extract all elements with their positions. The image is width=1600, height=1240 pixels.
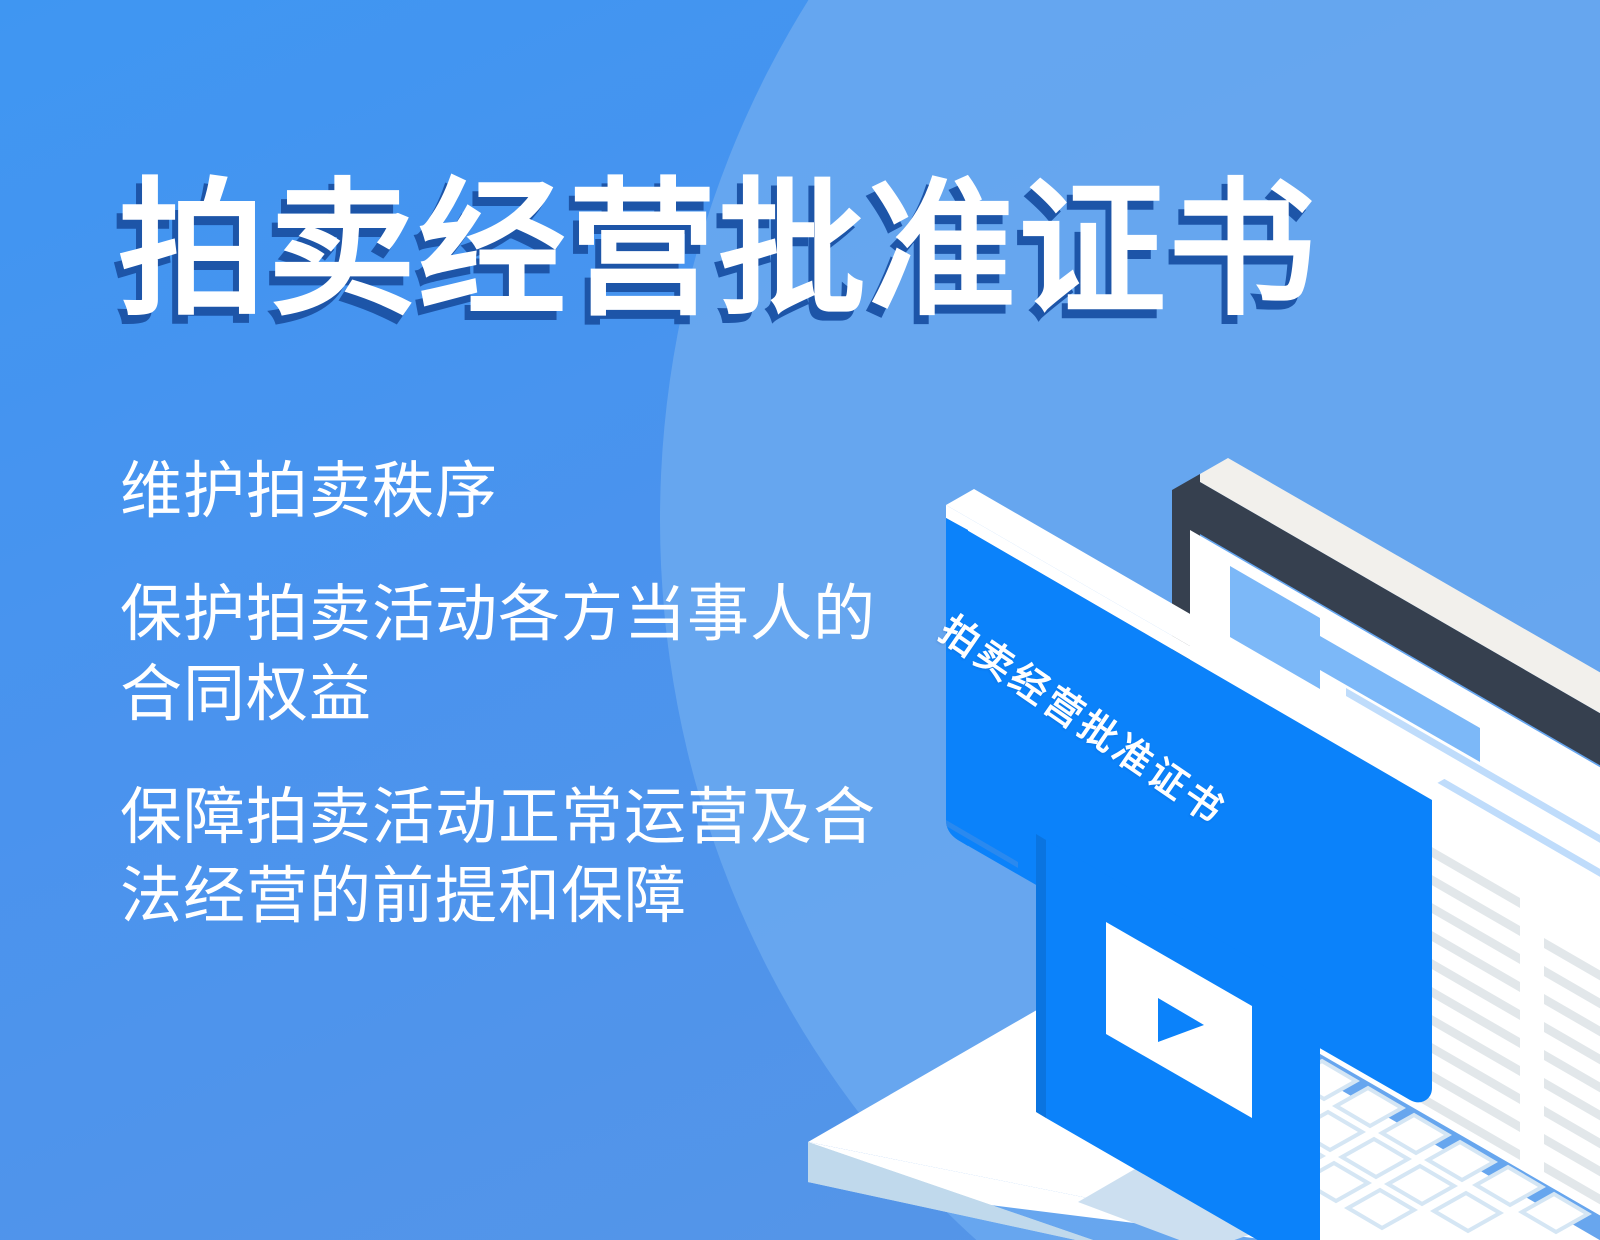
feature-list: 维护拍卖秩序 保护拍卖活动各方当事人的合同权益 保障拍卖活动正常运营及合法经营的… — [120, 452, 920, 937]
feature-item-3: 保障拍卖活动正常运营及合法经营的前提和保障 — [120, 778, 920, 937]
page-title: 拍卖经营批准证书 — [118, 176, 1318, 327]
poster-canvas: 拍卖经营批准证书 拍卖经营批准证书 维护拍卖秩序 保护拍卖活动各方当事人的合同权… — [0, 0, 1600, 1240]
feature-item-1: 维护拍卖秩序 — [120, 452, 920, 531]
feature-item-2: 保护拍卖活动各方当事人的合同权益 — [120, 575, 920, 734]
